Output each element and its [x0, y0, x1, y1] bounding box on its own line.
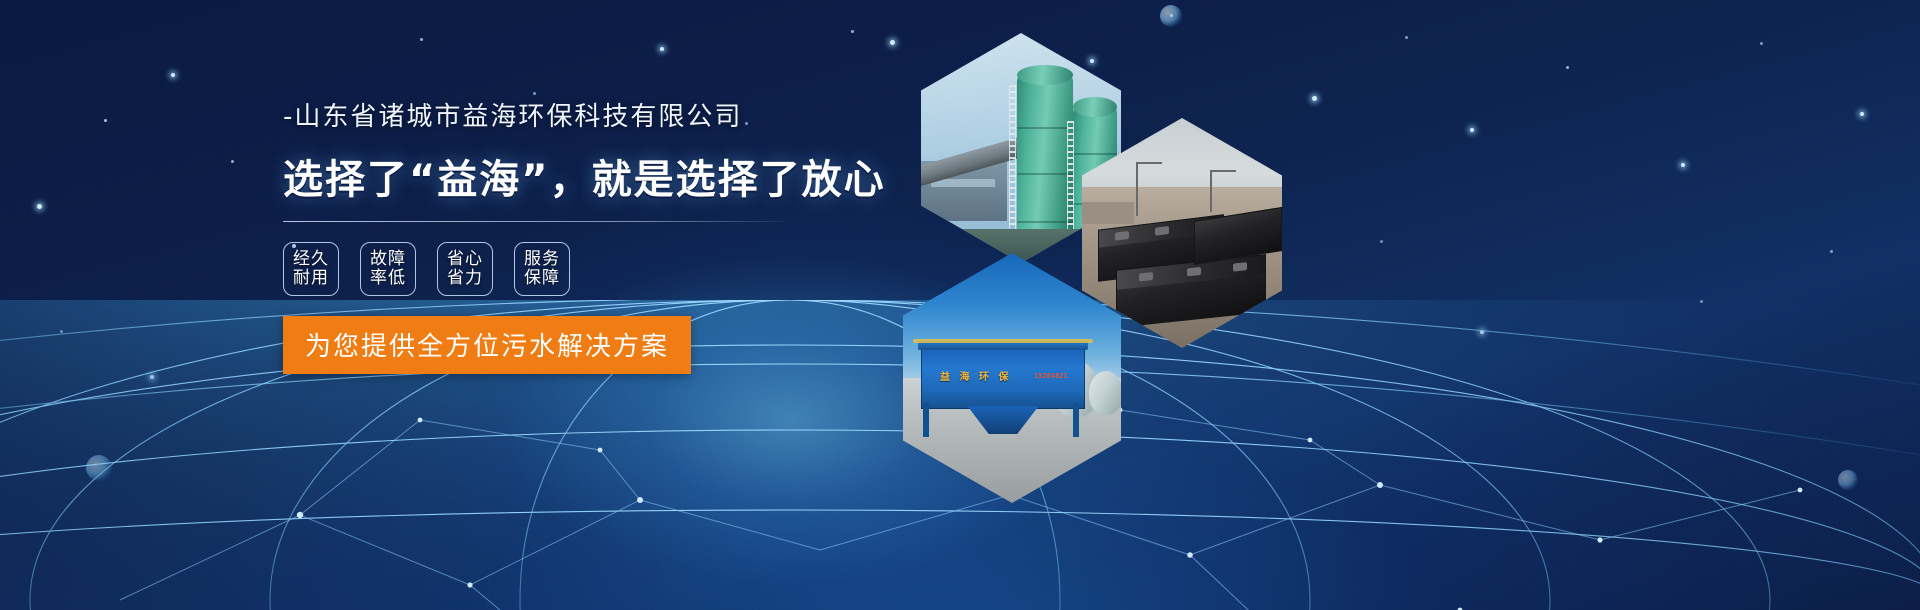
badge-line-2: 省力	[447, 269, 483, 288]
star	[890, 40, 895, 45]
star	[1470, 128, 1474, 132]
badge-line-1: 故障	[370, 250, 406, 269]
star	[1860, 112, 1864, 116]
crane	[1136, 162, 1138, 216]
tower-band	[1017, 173, 1073, 175]
frp-tank	[1089, 371, 1121, 415]
star	[1830, 250, 1833, 253]
badge-service-guarantee[interactable]: 服务 保障	[514, 242, 570, 296]
machine-phone-text: 15264821	[1034, 372, 1068, 380]
badge-labor-saving[interactable]: 省心 省力	[437, 242, 493, 296]
badge-durability[interactable]: 经久 耐用	[283, 242, 339, 296]
badge-line-1: 省心	[447, 250, 483, 269]
particle-dot	[86, 455, 112, 481]
tower-band	[1017, 221, 1073, 223]
tower-cap	[1017, 65, 1073, 85]
machine-frame-leg	[1073, 403, 1079, 437]
crane	[1210, 170, 1212, 212]
star	[231, 160, 234, 163]
star	[1312, 96, 1317, 101]
site-shed	[1082, 202, 1134, 224]
flotation-machine-body: 益 海 环 保 15264821	[921, 347, 1085, 409]
star	[171, 73, 175, 77]
star	[533, 92, 536, 95]
tank-hatch	[1187, 267, 1201, 276]
star	[1480, 330, 1484, 334]
badge-line-2: 率低	[370, 269, 406, 288]
promo-banner: -山东省诸城市益海环保科技有限公司 选择了“益海”，就是选择了放心 经久 耐用 …	[0, 0, 1920, 610]
star	[60, 330, 63, 333]
badge-low-failure[interactable]: 故障 率低	[360, 242, 416, 296]
company-subtitle: -山东省诸城市益海环保科技有限公司	[283, 96, 903, 133]
star	[104, 119, 107, 122]
badge-line-1: 经久	[293, 250, 329, 269]
banner-text-block: -山东省诸城市益海环保科技有限公司 选择了“益海”，就是选择了放心 经久 耐用 …	[283, 96, 903, 374]
star	[1380, 240, 1383, 243]
tower-band	[1017, 127, 1073, 129]
cta-banner-label[interactable]: 为您提供全方位污水解决方案	[283, 316, 691, 374]
tank-hatch	[1115, 231, 1129, 241]
star	[150, 375, 154, 379]
machine-frame-leg	[923, 403, 929, 437]
star	[851, 30, 854, 33]
badge-line-1: 服务	[524, 250, 560, 269]
star	[1090, 59, 1094, 63]
tower-cap	[1073, 97, 1117, 117]
star	[1566, 66, 1569, 69]
divider	[283, 221, 785, 222]
feature-badges: 经久 耐用 故障 率低 省心 省力 服务 保障	[283, 242, 903, 296]
star	[1681, 163, 1685, 167]
star	[660, 47, 664, 51]
banner-headline: 选择了“益海”，就是选择了放心	[283, 147, 903, 205]
badge-line-2: 耐用	[293, 269, 329, 288]
tank-hatch	[1233, 262, 1247, 271]
star	[1760, 42, 1763, 45]
tower-band	[1073, 153, 1117, 155]
machine-rail	[913, 339, 1093, 343]
particle-dot	[1838, 470, 1858, 490]
machine-logo-text: 益 海 环 保	[940, 368, 1011, 383]
access-ladder	[1067, 121, 1074, 263]
star	[37, 204, 42, 209]
tank-hatch	[1139, 272, 1153, 281]
tank-hatch	[1155, 226, 1169, 236]
star	[420, 38, 423, 41]
star	[1405, 36, 1408, 39]
badge-line-2: 保障	[524, 269, 560, 288]
star	[1700, 300, 1703, 303]
particle-dot	[1160, 5, 1182, 27]
